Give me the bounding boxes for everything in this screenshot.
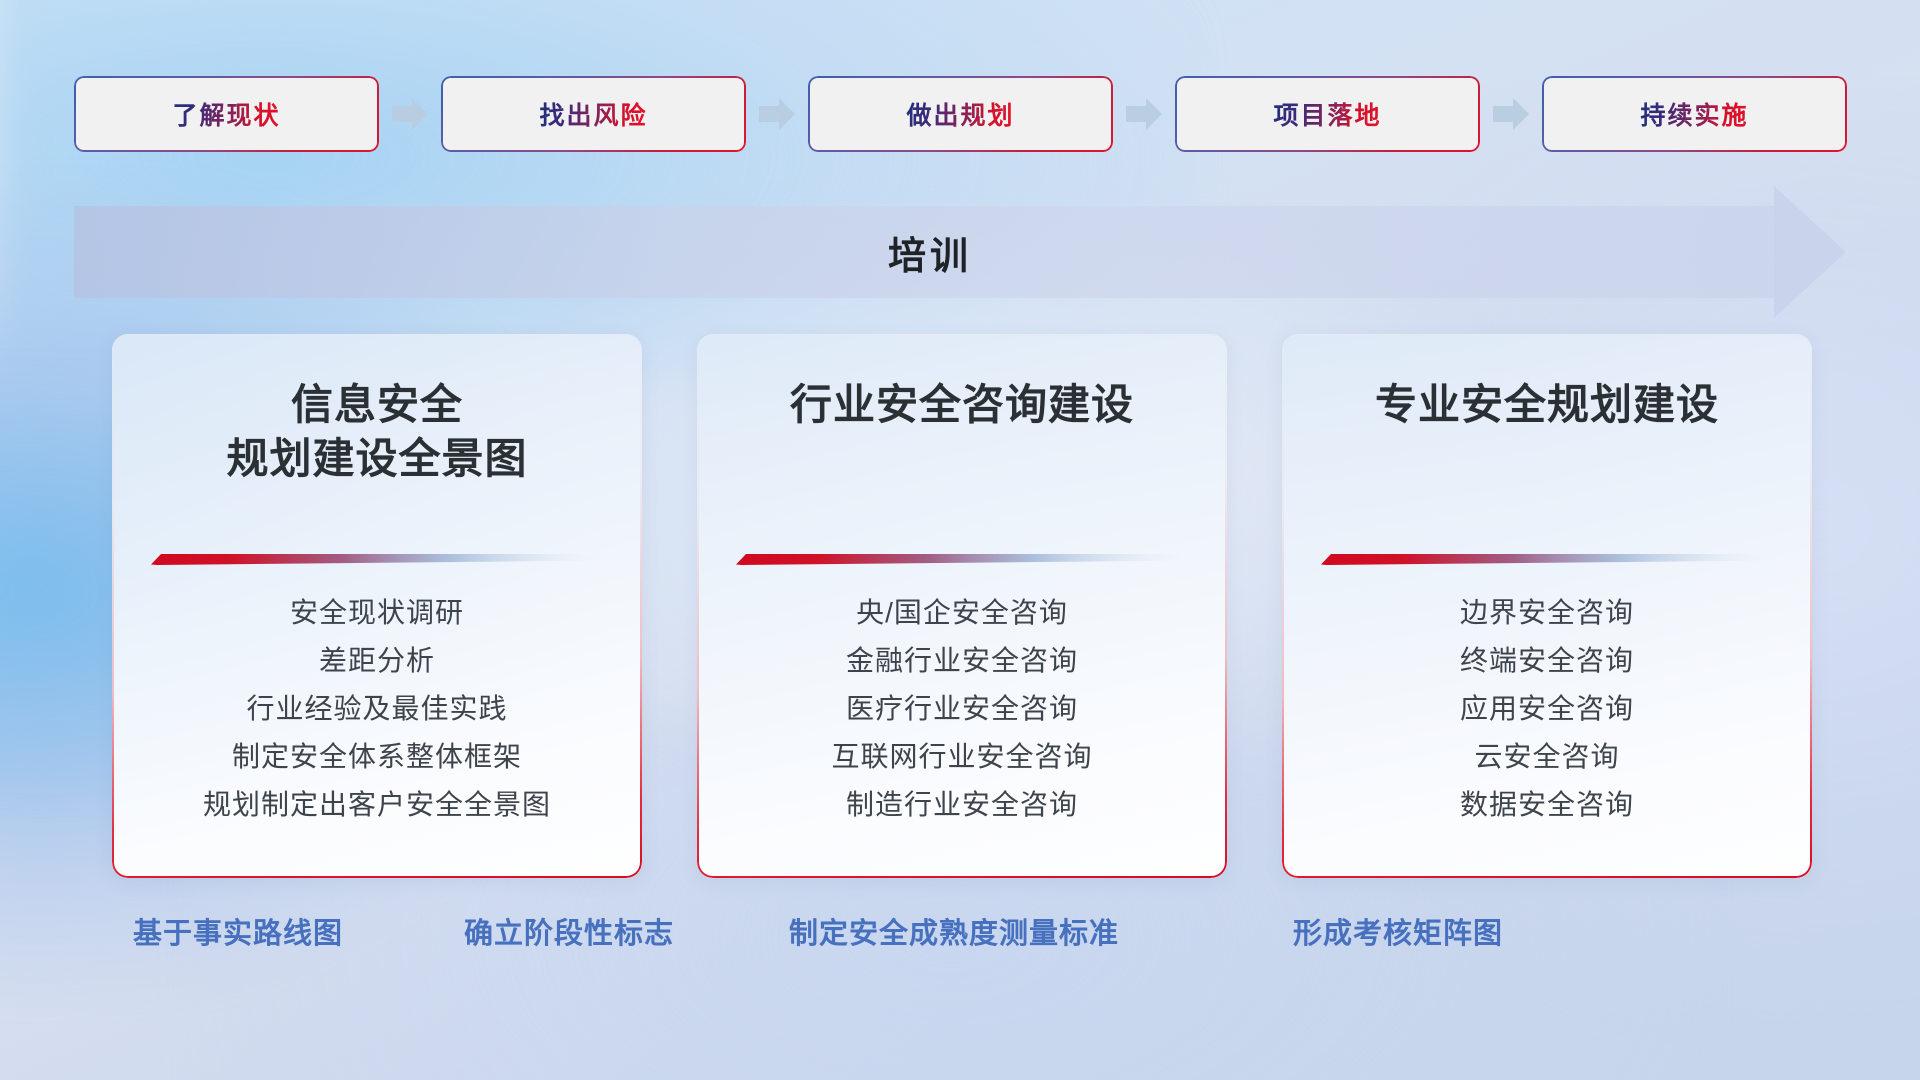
list-item: 云安全咨询 bbox=[1474, 739, 1619, 776]
list-item: 行业经验及最佳实践 bbox=[246, 691, 507, 728]
service-card-list: 央/国企安全咨询金融行业安全咨询医疗行业安全咨询互联网行业安全咨询制造行业安全咨… bbox=[727, 565, 1197, 842]
process-step-4[interactable]: 项目落地 bbox=[1175, 76, 1480, 152]
service-card-1[interactable]: 信息安全 规划建设全景图安全现状调研差距分析行业经验及最佳实践制定安全体系整体框… bbox=[112, 334, 642, 878]
caption-row: 基于事实路线图确立阶段性标志制定安全成熟度测量标准形成考核矩阵图 bbox=[0, 910, 1920, 966]
process-step-2[interactable]: 找出风险 bbox=[441, 76, 746, 152]
process-step-label: 做出规划 bbox=[906, 96, 1014, 132]
bottom-caption-4: 形成考核矩阵图 bbox=[1293, 910, 1503, 952]
card-divider-rule bbox=[736, 554, 1188, 565]
service-card-title: 行业安全咨询建设 bbox=[790, 378, 1134, 432]
process-step-label: 项目落地 bbox=[1273, 96, 1381, 132]
process-step-label: 持续实施 bbox=[1640, 96, 1748, 132]
training-banner-title: 培训 bbox=[74, 206, 1846, 298]
service-card-list: 边界安全咨询终端安全咨询应用安全咨询云安全咨询数据安全咨询 bbox=[1312, 565, 1782, 842]
list-item: 央/国企安全咨询 bbox=[856, 595, 1068, 632]
list-item: 差距分析 bbox=[319, 643, 435, 680]
service-card-inner: 信息安全 规划建设全景图安全现状调研差距分析行业经验及最佳实践制定安全体系整体框… bbox=[112, 334, 642, 878]
service-card-inner: 专业安全规划建设边界安全咨询终端安全咨询应用安全咨询云安全咨询数据安全咨询 bbox=[1282, 334, 1812, 878]
list-item: 数据安全咨询 bbox=[1460, 787, 1634, 824]
bottom-caption-1: 基于事实路线图 bbox=[133, 910, 343, 952]
list-item: 应用安全咨询 bbox=[1460, 691, 1634, 728]
service-card-2[interactable]: 行业安全咨询建设央/国企安全咨询金融行业安全咨询医疗行业安全咨询互联网行业安全咨… bbox=[697, 334, 1227, 878]
process-step-5[interactable]: 持续实施 bbox=[1542, 76, 1847, 152]
card-divider-rule bbox=[151, 554, 603, 565]
list-item: 安全现状调研 bbox=[290, 595, 464, 632]
list-item: 规划制定出客户安全全景图 bbox=[203, 787, 551, 824]
process-step-3[interactable]: 做出规划 bbox=[808, 76, 1113, 152]
chevron-right-arrow-icon bbox=[1113, 76, 1175, 152]
list-item: 互联网行业安全咨询 bbox=[831, 739, 1092, 776]
list-item: 制造行业安全咨询 bbox=[846, 787, 1078, 824]
service-card-3[interactable]: 专业安全规划建设边界安全咨询终端安全咨询应用安全咨询云安全咨询数据安全咨询 bbox=[1282, 334, 1812, 878]
list-item: 金融行业安全咨询 bbox=[846, 643, 1078, 680]
service-card-inner: 行业安全咨询建设央/国企安全咨询金融行业安全咨询医疗行业安全咨询互联网行业安全咨… bbox=[697, 334, 1227, 878]
card-row: 信息安全 规划建设全景图安全现状调研差距分析行业经验及最佳实践制定安全体系整体框… bbox=[112, 334, 1812, 878]
training-banner: 培训 bbox=[74, 206, 1846, 298]
service-card-title: 专业安全规划建设 bbox=[1375, 378, 1719, 432]
process-step-label: 了解现状 bbox=[172, 96, 280, 132]
chevron-right-arrow-icon bbox=[1480, 76, 1542, 152]
card-divider-rule bbox=[1321, 554, 1773, 565]
chevron-right-arrow-icon bbox=[746, 76, 808, 152]
list-item: 终端安全咨询 bbox=[1460, 643, 1634, 680]
bottom-caption-3: 制定安全成熟度测量标准 bbox=[789, 910, 1119, 952]
process-step-label: 找出风险 bbox=[539, 96, 647, 132]
service-card-title: 信息安全 规划建设全景图 bbox=[226, 378, 527, 486]
chevron-right-arrow-icon bbox=[379, 76, 441, 152]
list-item: 医疗行业安全咨询 bbox=[846, 691, 1078, 728]
process-step-1[interactable]: 了解现状 bbox=[74, 76, 379, 152]
process-step-row: 了解现状找出风险做出规划项目落地持续实施 bbox=[74, 76, 1846, 152]
bottom-caption-2: 确立阶段性标志 bbox=[464, 910, 674, 952]
service-card-list: 安全现状调研差距分析行业经验及最佳实践制定安全体系整体框架规划制定出客户安全全景… bbox=[142, 565, 612, 842]
slide-stage: 了解现状找出风险做出规划项目落地持续实施 培训 信息安全 规划建设全景图安全现状… bbox=[0, 0, 1920, 1080]
list-item: 边界安全咨询 bbox=[1460, 595, 1634, 632]
list-item: 制定安全体系整体框架 bbox=[232, 739, 522, 776]
